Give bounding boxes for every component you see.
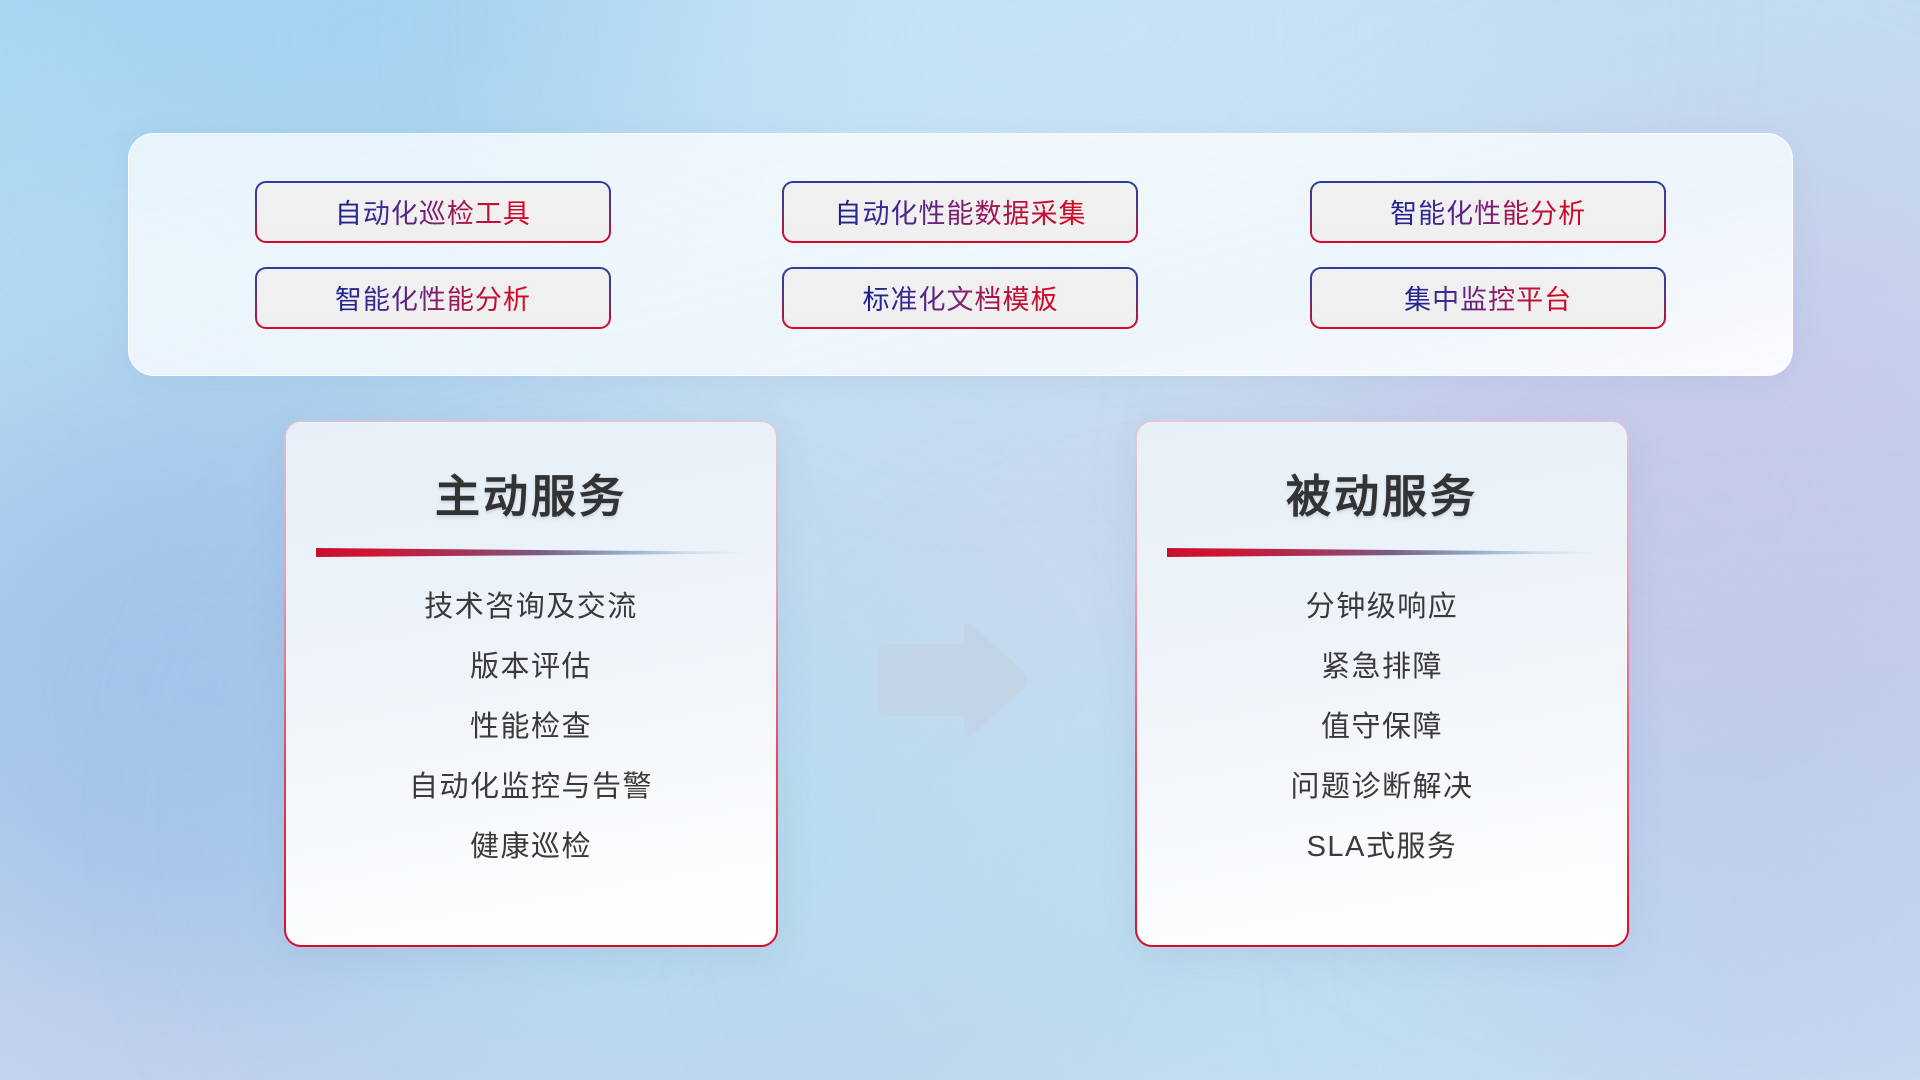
capability-panel: 自动化巡检工具 智能化性能分析 自动化性能数据采集 标准化文档模板 智能化性能分… — [128, 133, 1793, 376]
capability-pill-standardized-document-template[interactable]: 标准化文档模板 — [782, 267, 1138, 329]
capability-column-3: 智能化性能分析 集中监控平台 — [1310, 181, 1666, 329]
capability-pill-intelligent-performance-analysis[interactable]: 智能化性能分析 — [255, 267, 611, 329]
capability-pill-label: 智能化性能分析 — [1390, 192, 1586, 231]
list-item[interactable]: 健康巡检 — [470, 827, 592, 867]
card-title: 主动服务 — [435, 460, 627, 525]
capability-column-1: 自动化巡检工具 智能化性能分析 — [255, 181, 611, 329]
list-item[interactable]: 问题诊断解决 — [1290, 767, 1473, 807]
list-item[interactable]: 紧急排障 — [1321, 647, 1443, 687]
list-item[interactable]: 自动化监控与告警 — [409, 767, 653, 807]
capability-pill-centralized-monitoring-platform[interactable]: 集中监控平台 — [1310, 267, 1666, 329]
list-item[interactable]: 分钟级响应 — [1306, 587, 1459, 627]
list-item[interactable]: 性能检查 — [470, 707, 592, 747]
service-item-list: 技术咨询及交流 版本评估 性能检查 自动化监控与告警 健康巡检 — [286, 587, 776, 867]
capability-pill-automation-inspection-tool[interactable]: 自动化巡检工具 — [255, 181, 611, 243]
list-item[interactable]: 值守保障 — [1321, 707, 1443, 747]
list-item[interactable]: 版本评估 — [470, 647, 592, 687]
service-card-reactive[interactable]: 被动服务 分钟级响应 紧急排障 值守保障 问题诊断解决 SLA式服务 — [1135, 420, 1629, 947]
capability-pill-label: 自动化巡检工具 — [335, 192, 531, 231]
service-card-proactive[interactable]: 主动服务 技术咨询及交流 版本评估 性能检查 自动化监控与告警 健康巡检 — [284, 420, 778, 947]
capability-pill-label: 集中监控平台 — [1404, 278, 1572, 317]
capability-pill-label: 标准化文档模板 — [862, 278, 1058, 317]
card-title: 被动服务 — [1286, 460, 1478, 525]
flow-arrow-right-icon — [872, 620, 1032, 740]
title-divider — [1167, 548, 1597, 557]
capability-pill-automated-performance-data-collection[interactable]: 自动化性能数据采集 — [782, 181, 1138, 243]
capability-pill-label: 自动化性能数据采集 — [834, 192, 1086, 231]
capability-pill-label: 智能化性能分析 — [335, 278, 531, 317]
list-item[interactable]: SLA式服务 — [1307, 827, 1458, 867]
list-item[interactable]: 技术咨询及交流 — [424, 587, 638, 627]
service-item-list: 分钟级响应 紧急排障 值守保障 问题诊断解决 SLA式服务 — [1137, 587, 1627, 867]
capability-pill-intelligent-performance-analysis-2[interactable]: 智能化性能分析 — [1310, 181, 1666, 243]
title-divider — [316, 548, 746, 557]
capability-column-2: 自动化性能数据采集 标准化文档模板 — [782, 181, 1138, 329]
